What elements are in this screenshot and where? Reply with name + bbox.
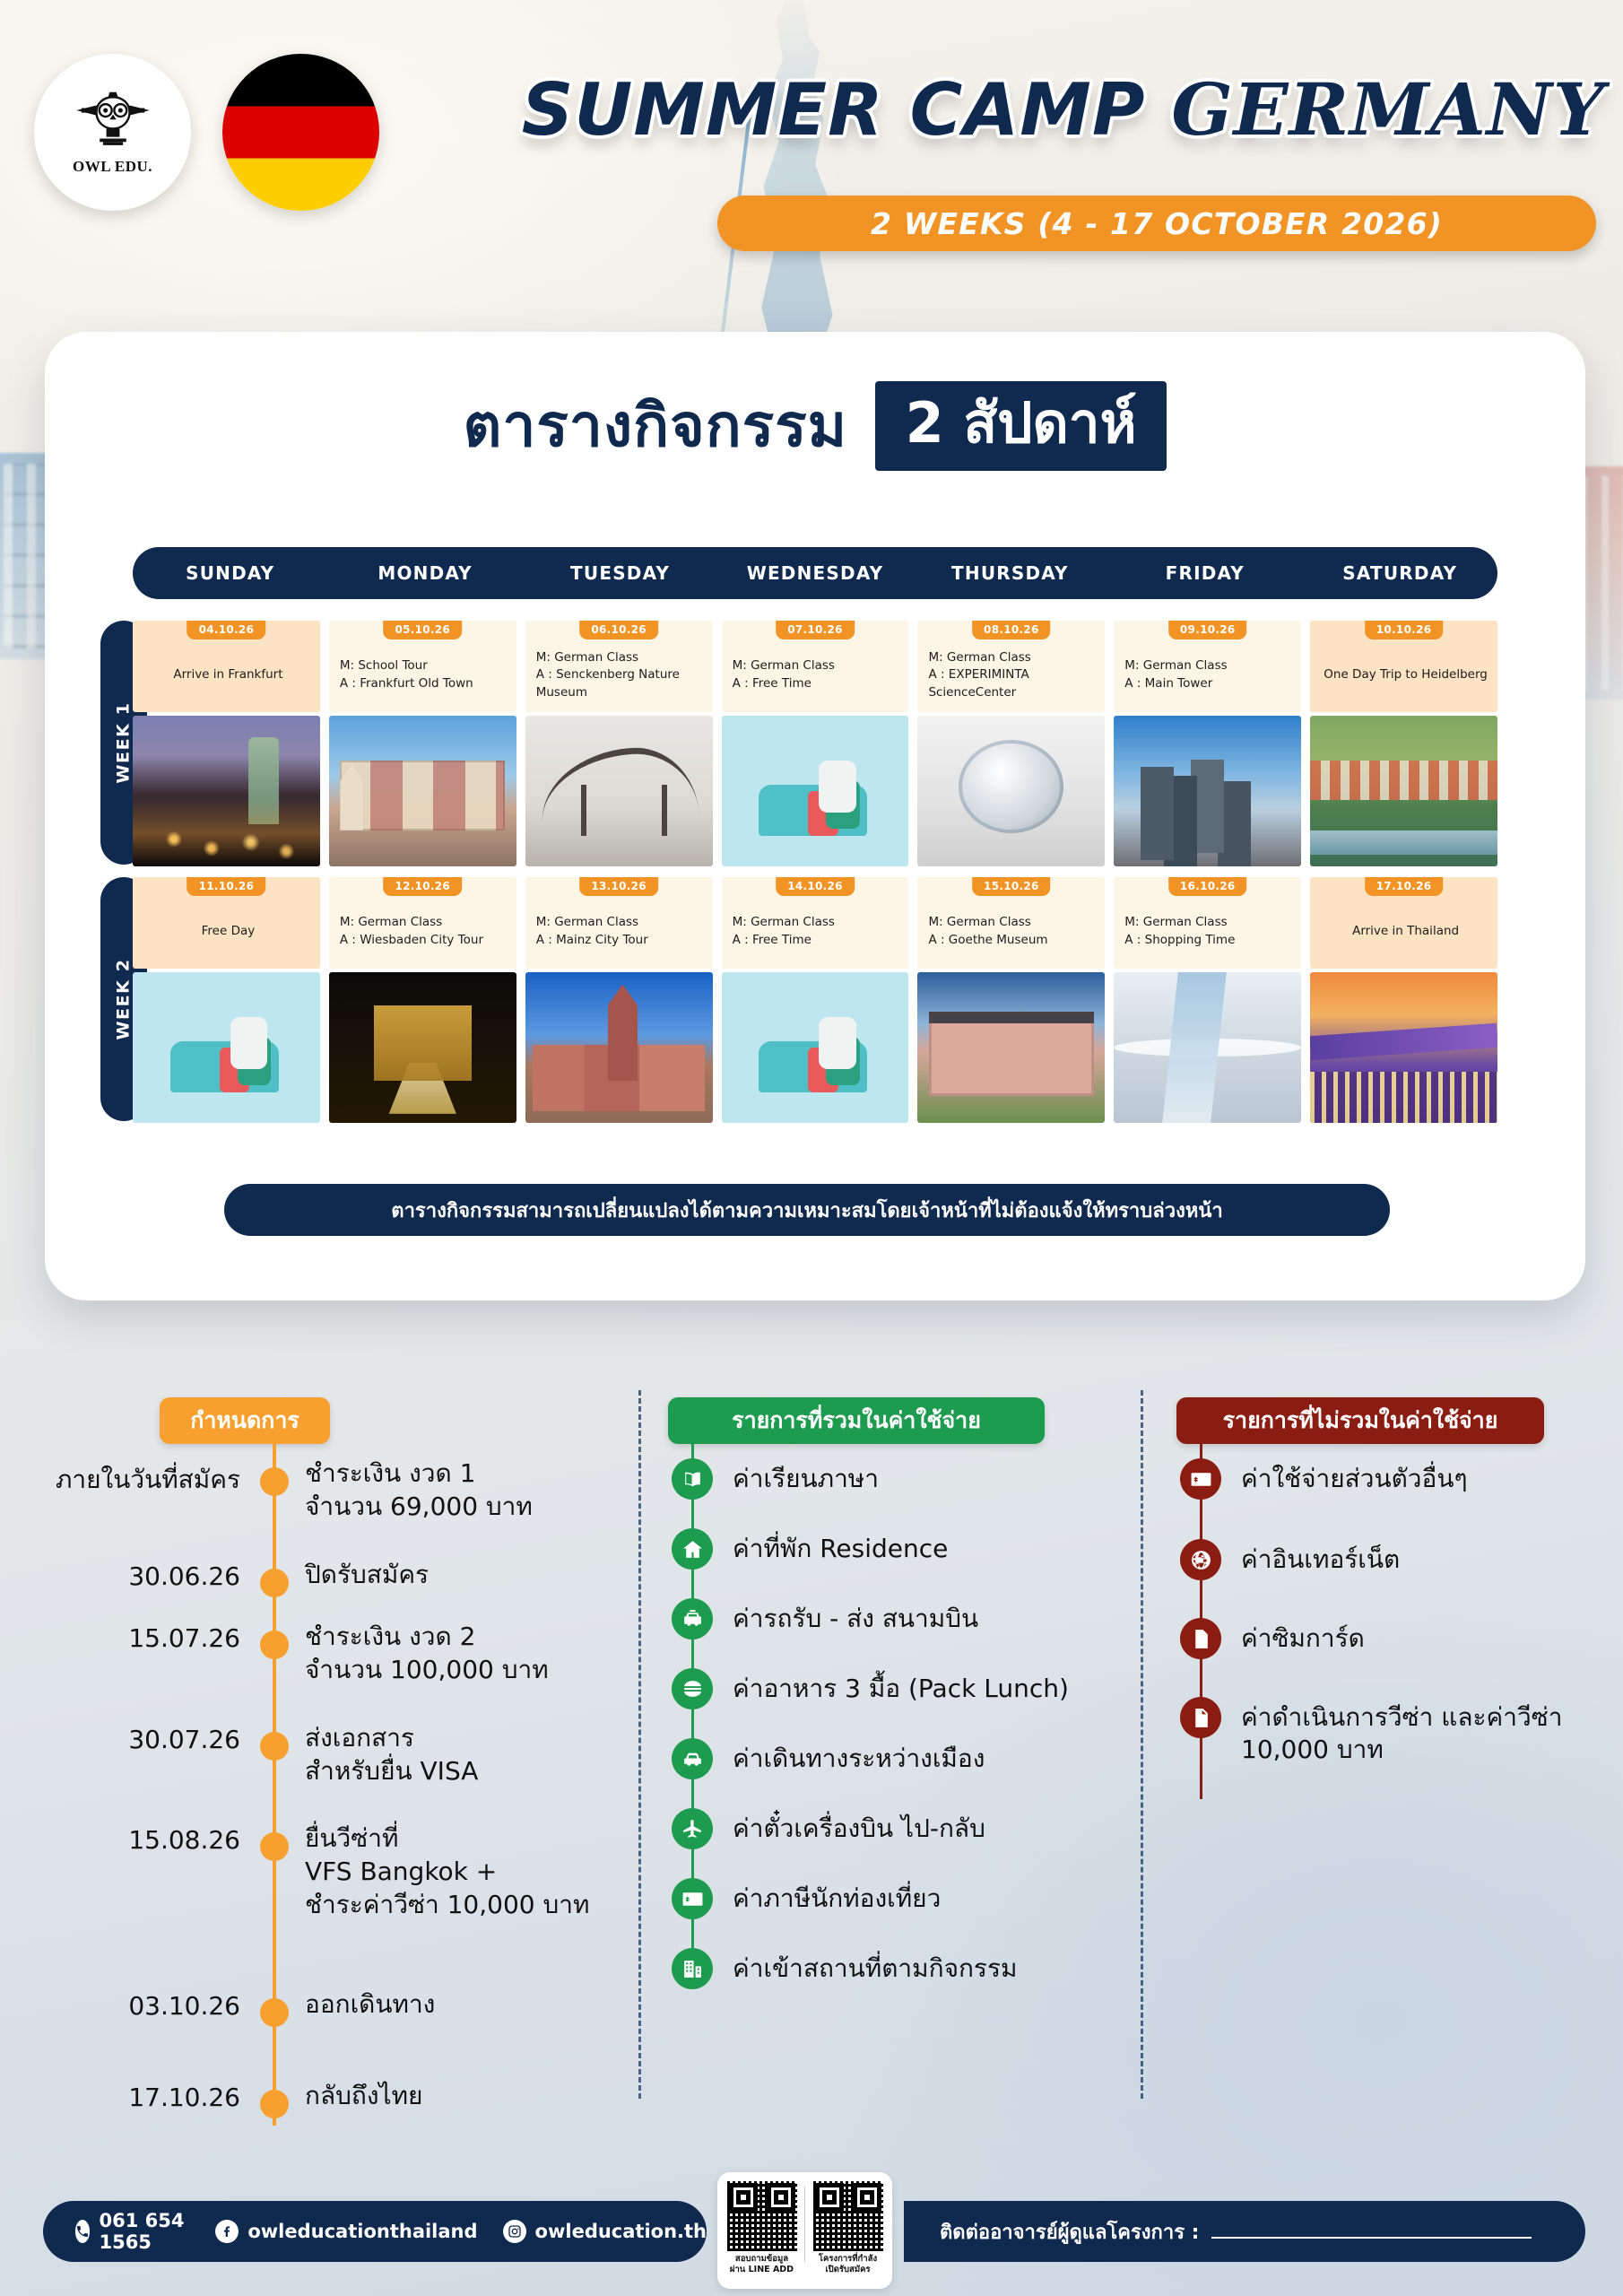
excluded-list-item: ค่าดำเนินการวีซ่า และค่าวีซ่า 10,000 บาท: [1180, 1697, 1562, 1767]
timeline-item-date: 15.08.26: [0, 1825, 240, 1855]
day-date-chip: 17.10.26: [1365, 877, 1444, 896]
timeline-item-date: 17.10.26: [0, 2083, 240, 2112]
schedule-card: ตารางกิจกรรม 2 สัปดาห์ SUNDAY MONDAY TUE…: [45, 332, 1585, 1300]
excluded-list-item: ค่าซิมการ์ด: [1180, 1618, 1365, 1659]
timeline-item-dot: [260, 1569, 289, 1597]
excluded-list-item: ค่าใช้จ่ายส่วนตัวอื่นๆ: [1180, 1458, 1468, 1500]
timeline-item-dot: [260, 1467, 289, 1496]
day-activity-text: Arrive in Thailand: [1321, 923, 1490, 941]
day-date-chip: 05.10.26: [383, 621, 462, 639]
schedule-disclaimer-text: ตารางกิจกรรมสามารถเปลี่ยนแปลงได้ตามความเ…: [391, 1195, 1222, 1226]
teacher-contact-blank-line[interactable]: [1211, 2237, 1532, 2239]
day-date-chip: 06.10.26: [579, 621, 658, 639]
day-date-chip: 15.10.26: [972, 877, 1051, 896]
timeline-item-date: 30.06.26: [0, 1561, 240, 1591]
facebook-icon: [215, 2220, 239, 2243]
instagram-icon: [503, 2220, 526, 2243]
schedule-heading: ตารางกิจกรรม 2 สัปดาห์: [45, 378, 1585, 473]
timeline-item-text: ออกเดินทาง: [305, 1988, 628, 2022]
instagram-contact[interactable]: owleducation.th: [503, 2220, 707, 2243]
day-activity-text: M: German Class A : EXPERIMINTA ScienceC…: [928, 649, 1030, 702]
qr-code-icon: [727, 2181, 797, 2251]
qr-open-programs[interactable]: โครงการที่กำลัง เปิดรับสมัคร: [811, 2181, 885, 2285]
week-1-row: 04.10.26 Arrive in Frankfurt 05.10.26 M:…: [133, 621, 1497, 866]
mainz-cathedral-photo: [525, 972, 713, 1123]
globe-icon: [1180, 1539, 1221, 1580]
week-2-label-text: WEEK 2: [114, 958, 134, 1039]
timeline-item-text: กลับถึงไทย: [305, 2080, 628, 2113]
included-list-item: ค่าที่พัก Residence: [672, 1528, 948, 1570]
owl-icon: [71, 89, 155, 155]
day-cell[interactable]: 07.10.26 M: German Class A : Free Time: [722, 621, 909, 866]
day-date-chip: 08.10.26: [972, 621, 1051, 639]
day-cell[interactable]: 09.10.26 M: German Class A : Main Tower: [1114, 621, 1301, 866]
timeline-item-text: ชำระเงิน งวด 1 จำนวน 69,000 บาท: [305, 1457, 628, 1524]
included-item-label: ค่าเดินทางระหว่างเมือง: [733, 1738, 985, 1775]
day-date-chip: 12.10.26: [383, 877, 462, 896]
excluded-item-label: ค่าซิมการ์ด: [1241, 1618, 1365, 1655]
day-cell-textbox: 11.10.26 Free Day: [133, 877, 320, 969]
included-item-label: ค่าเข้าสถานที่ตามกิจกรรม: [733, 1948, 1017, 1985]
timeline-item-date: 03.10.26: [0, 1991, 240, 2021]
phone-icon: [75, 2220, 90, 2243]
day-cell[interactable]: 10.10.26 One Day Trip to Heidelberg: [1310, 621, 1497, 866]
weekday-wednesday: WEDNESDAY: [717, 562, 912, 584]
excluded-item-label: ค่าอินเทอร์เน็ต: [1241, 1539, 1400, 1576]
included-list-item: ค่าภาษีนักท่องเที่ยว: [672, 1878, 941, 1919]
timeline-item-text: ชำระเงิน งวด 2 จำนวน 100,000 บาท: [305, 1621, 628, 1687]
wiesbaden-kurhaus-night-photo: [329, 972, 516, 1123]
facebook-handle: owleducationthailand: [247, 2221, 477, 2242]
excluded-list-item: ค่าอินเทอร์เน็ต: [1180, 1539, 1400, 1580]
page-footer: 061 654 1565 owleducationthailand owledu…: [0, 2152, 1623, 2296]
excluded-item-label: ค่าใช้จ่ายส่วนตัวอื่นๆ: [1241, 1458, 1468, 1495]
free-time-illustration-photo: [722, 716, 909, 866]
day-cell[interactable]: 06.10.26 M: German Class A : Senckenberg…: [525, 621, 713, 866]
included-item-label: ค่าภาษีนักท่องเที่ยว: [733, 1878, 941, 1915]
timeline-item-date: 15.07.26: [0, 1623, 240, 1653]
info-columns: กำหนดการ ภายในวันที่สมัคร ชำระเงิน งวด 1…: [0, 1381, 1623, 2126]
included-list-item: ค่าเข้าสถานที่ตามกิจกรรม: [672, 1948, 1017, 1989]
facebook-contact[interactable]: owleducationthailand: [215, 2220, 477, 2243]
shopping-mall-photo: [1114, 972, 1301, 1123]
phone-number: 061 654 1565: [99, 2210, 190, 2253]
weekday-friday: FRIDAY: [1107, 562, 1302, 584]
day-cell-textbox: 12.10.26 M: German Class A : Wiesbaden C…: [329, 877, 516, 969]
included-item-label: ค่าเรียนภาษา: [733, 1458, 879, 1495]
building-icon: [672, 1948, 713, 1989]
goethe-museum-photo: [917, 972, 1105, 1123]
frankfurt-roemer-night-photo: [133, 716, 320, 866]
included-title-text: รายการที่รวมในค่าใช้จ่าย: [732, 1403, 981, 1439]
included-list-item: ค่าอาหาร 3 มื้อ (Pack Lunch): [672, 1668, 1069, 1709]
qr-separator: [804, 2187, 805, 2262]
car-icon: [672, 1738, 713, 1779]
timeline-item-text: ส่งเอกสาร สำหรับยื่น VISA: [305, 1722, 628, 1788]
schedule-heading-text: ตารางกิจกรรม: [464, 378, 848, 473]
day-activity-text: M: German Class A : Goethe Museum: [928, 914, 1047, 949]
included-item-label: ค่าที่พัก Residence: [733, 1528, 948, 1565]
schedule-duration-badge: 2 สัปดาห์: [875, 381, 1167, 471]
weekday-tuesday: TUESDAY: [523, 562, 717, 584]
included-list-item: ค่าเดินทางระหว่างเมือง: [672, 1738, 985, 1779]
page-title-line2: GERMANY: [1171, 67, 1605, 152]
day-activity-text: M: German Class A : Main Tower: [1124, 657, 1227, 692]
day-cell-textbox: 07.10.26 M: German Class A : Free Time: [722, 621, 909, 712]
day-cell-textbox: 04.10.26 Arrive in Frankfurt: [133, 621, 320, 712]
frankfurt-main-tower-photo: [1114, 716, 1301, 866]
owl-logo-text: OWL EDU.: [73, 158, 152, 176]
day-cell-textbox: 09.10.26 M: German Class A : Main Tower: [1114, 621, 1301, 712]
qr-caption: สอบถามข้อมูล ผ่าน LINE ADD: [730, 2254, 794, 2275]
sim-card-icon: [1180, 1618, 1221, 1659]
day-cell[interactable]: 15.10.26 M: German Class A : Goethe Muse…: [917, 877, 1105, 1123]
timeline-title-text: กำหนดการ: [190, 1403, 299, 1439]
day-activity-text: M: School Tour A : Frankfurt Old Town: [340, 657, 473, 692]
free-time-illustration-photo: [133, 972, 320, 1123]
qr-caption: โครงการที่กำลัง เปิดรับสมัคร: [819, 2254, 877, 2275]
teacher-contact-label: ติดต่ออาจารย์ผู้ดูแลโครงการ :: [940, 2216, 1199, 2248]
experiminta-sciencecenter-photo: [917, 716, 1105, 866]
teacher-contact-bar: ติดต่ออาจารย์ผู้ดูแลโครงการ :: [904, 2201, 1585, 2262]
day-cell[interactable]: 11.10.26 Free Day: [133, 877, 320, 1123]
day-cell[interactable]: 13.10.26 M: German Class A : Mainz City …: [525, 877, 713, 1123]
money-card-icon: [672, 1878, 713, 1919]
day-activity-text: M: German Class A : Free Time: [733, 914, 835, 949]
qr-code-icon: [813, 2181, 883, 2251]
day-date-chip: 07.10.26: [776, 621, 855, 639]
timeline-item-date: 30.07.26: [0, 1725, 240, 1754]
day-activity-text: M: German Class A : Wiesbaden City Tour: [340, 914, 483, 949]
timeline-item-text: ยื่นวีซ่าที่ VFS Bangkok + ชำระค่าวีซ่า …: [305, 1822, 628, 1922]
page-title: SUMMER CAMP GERMANY: [466, 74, 1605, 146]
day-cell-textbox: 10.10.26 One Day Trip to Heidelberg: [1310, 621, 1497, 712]
included-item-label: ค่าอาหาร 3 มื้อ (Pack Lunch): [733, 1668, 1069, 1705]
day-cell-textbox: 14.10.26 M: German Class A : Free Time: [722, 877, 909, 969]
day-activity-text: Arrive in Frankfurt: [143, 666, 313, 684]
heidelberg-old-bridge-photo: [1310, 716, 1497, 866]
frankfurt-old-town-photo: [329, 716, 516, 866]
included-list-item: ค่าตั๋วเครื่องบิน ไป-กลับ: [672, 1808, 985, 1849]
free-time-illustration-photo: [722, 972, 909, 1123]
column-divider-1: [638, 1390, 641, 2099]
day-date-chip: 16.10.26: [1168, 877, 1247, 896]
weekday-thursday: THURSDAY: [913, 562, 1107, 584]
burger-icon: [672, 1668, 713, 1709]
day-cell-textbox: 15.10.26 M: German Class A : Goethe Muse…: [917, 877, 1105, 969]
day-cell-textbox: 13.10.26 M: German Class A : Mainz City …: [525, 877, 713, 969]
excluded-title-badge: รายการที่ไม่รวมในค่าใช้จ่าย: [1176, 1397, 1544, 1444]
excluded-title-text: รายการที่ไม่รวมในค่าใช้จ่าย: [1223, 1403, 1498, 1439]
day-cell[interactable]: 16.10.26 M: German Class A : Shopping Ti…: [1114, 877, 1301, 1123]
senckenberg-dinosaur-photo: [525, 716, 713, 866]
weekday-sunday: SUNDAY: [133, 562, 327, 584]
day-cell-textbox: 06.10.26 M: German Class A : Senckenberg…: [525, 621, 713, 712]
germany-flag-icon: [222, 54, 379, 211]
day-activity-text: Free Day: [143, 923, 313, 941]
instagram-handle: owleducation.th: [535, 2221, 707, 2242]
column-divider-2: [1141, 1390, 1143, 2099]
money-card-icon: [1180, 1458, 1221, 1500]
weekday-header-row: SUNDAY MONDAY TUESDAY WEDNESDAY THURSDAY…: [133, 547, 1497, 599]
weekday-saturday: SATURDAY: [1303, 562, 1497, 584]
excluded-item-label: ค่าดำเนินการวีซ่า และค่าวีซ่า 10,000 บาท: [1241, 1697, 1562, 1767]
suvarnabhumi-airport-photo: [1310, 972, 1497, 1123]
contact-bar: 061 654 1565 owleducationthailand owledu…: [43, 2201, 707, 2262]
included-item-label: ค่ารถรับ - ส่ง สนามบิน: [733, 1598, 978, 1635]
day-date-chip: 13.10.26: [579, 877, 658, 896]
qr-line-add[interactable]: สอบถามข้อมูล ผ่าน LINE ADD: [725, 2181, 799, 2285]
day-date-chip: 10.10.26: [1365, 621, 1444, 639]
included-list-item: ค่ารถรับ - ส่ง สนามบิน: [672, 1598, 978, 1639]
weekday-monday: MONDAY: [327, 562, 522, 584]
schedule-disclaimer-bar: ตารางกิจกรรมสามารถเปลี่ยนแปลงได้ตามความเ…: [224, 1184, 1390, 1236]
day-cell[interactable]: 17.10.26 Arrive in Thailand: [1310, 877, 1497, 1123]
taxi-icon: [672, 1598, 713, 1639]
day-activity-text: M: German Class A : Senckenberg Nature M…: [536, 649, 680, 702]
timeline-item-dot: [260, 1998, 289, 2027]
day-cell-textbox: 08.10.26 M: German Class A : EXPERIMINTA…: [917, 621, 1105, 712]
day-cell[interactable]: 08.10.26 M: German Class A : EXPERIMINTA…: [917, 621, 1105, 866]
day-activity-text: M: German Class A : Mainz City Tour: [536, 914, 648, 949]
timeline-item-text: ปิดรับสมัคร: [305, 1559, 628, 1592]
owl-edu-logo: OWL EDU.: [34, 54, 191, 211]
home-icon: [672, 1528, 713, 1570]
day-activity-text: M: German Class A : Shopping Time: [1124, 914, 1235, 949]
week-2-row: 11.10.26 Free Day 12.10.26 M: German Cla…: [133, 877, 1497, 1123]
timeline-item-dot: [260, 1631, 289, 1659]
timeline-item-dot: [260, 2090, 289, 2118]
date-range-badge: 2 WEEKS (4 - 17 OCTOBER 2026): [717, 196, 1596, 251]
day-cell[interactable]: 14.10.26 M: German Class A : Free Time: [722, 877, 909, 1123]
day-date-chip: 09.10.26: [1168, 621, 1247, 639]
timeline-title-badge: กำหนดการ: [160, 1397, 330, 1444]
included-list-item: ค่าเรียนภาษา: [672, 1458, 879, 1500]
qr-code-card: สอบถามข้อมูล ผ่าน LINE ADD โครงการที่กำล…: [717, 2172, 892, 2289]
day-date-chip: 14.10.26: [776, 877, 855, 896]
airplane-icon: [672, 1808, 713, 1849]
poster-header: OWL EDU. SUMMER CAMP GERMANY 2 WEEKS (4 …: [0, 0, 1623, 296]
day-cell-textbox: 17.10.26 Arrive in Thailand: [1310, 877, 1497, 969]
day-activity-text: One Day Trip to Heidelberg: [1321, 666, 1490, 684]
timeline-item-dot: [260, 1732, 289, 1761]
day-cell-textbox: 05.10.26 M: School Tour A : Frankfurt Ol…: [329, 621, 516, 712]
timeline-item-date: ภายในวันที่สมัคร: [0, 1460, 240, 1500]
day-date-chip: 11.10.26: [187, 877, 266, 896]
week-1-label-text: WEEK 1: [114, 701, 134, 783]
day-cell[interactable]: 12.10.26 M: German Class A : Wiesbaden C…: [329, 877, 516, 1123]
document-icon: [1180, 1697, 1221, 1738]
day-cell[interactable]: 05.10.26 M: School Tour A : Frankfurt Ol…: [329, 621, 516, 866]
day-cell[interactable]: 04.10.26 Arrive in Frankfurt: [133, 621, 320, 866]
page-title-line1: SUMMER CAMP: [522, 68, 1146, 152]
day-activity-text: M: German Class A : Free Time: [733, 657, 835, 692]
day-cell-textbox: 16.10.26 M: German Class A : Shopping Ti…: [1114, 877, 1301, 969]
timeline-item-dot: [260, 1832, 289, 1861]
included-title-badge: รายการที่รวมในค่าใช้จ่าย: [668, 1397, 1045, 1444]
day-date-chip: 04.10.26: [187, 621, 266, 639]
book-icon: [672, 1458, 713, 1500]
included-item-label: ค่าตั๋วเครื่องบิน ไป-กลับ: [733, 1808, 985, 1845]
phone-contact[interactable]: 061 654 1565: [75, 2210, 190, 2253]
date-range-text: 2 WEEKS (4 - 17 OCTOBER 2026): [871, 206, 1443, 241]
